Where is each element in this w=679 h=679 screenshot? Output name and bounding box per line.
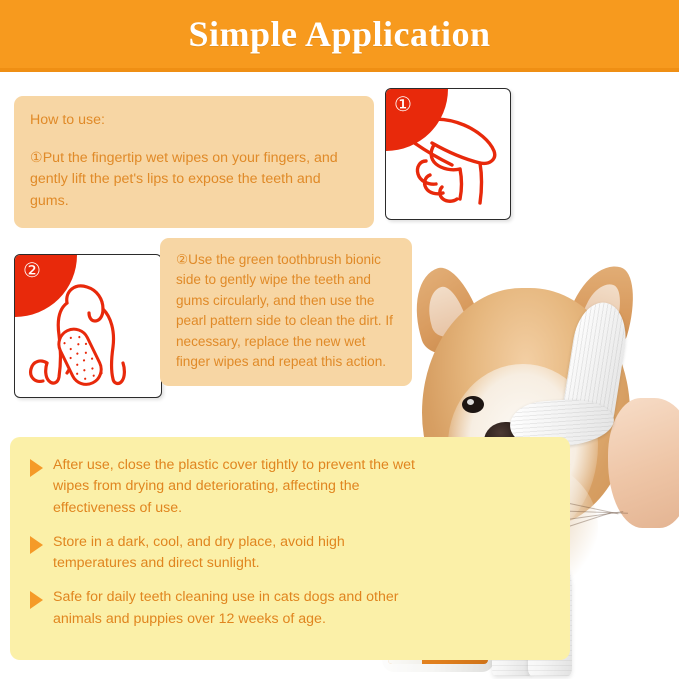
dog-eye-highlight [467,399,474,405]
dog-eye-open [462,396,484,413]
tip-item: After use, close the plastic cover tight… [26,455,554,519]
triangle-bullet-icon [30,591,43,609]
step-1-badge-number: ① [394,95,412,115]
illustration-panel-step-1: ① [385,88,511,220]
triangle-bullet-icon [30,459,43,477]
infographic-root: Simple Application [0,0,679,679]
tip-text: Safe for daily teeth cleaning use in cat… [53,587,425,630]
how-to-use-heading: How to use: [30,110,358,132]
illustration-panel-step-2: ② [14,254,162,398]
triangle-bullet-icon [30,536,43,554]
tips-panel: After use, close the plastic cover tight… [10,437,570,660]
tip-item: Store in a dark, cool, and dry place, av… [26,532,554,575]
tip-text: Store in a dark, cool, and dry place, av… [53,532,425,575]
step-2-text: ②Use the green toothbrush bionic side to… [176,250,398,372]
tip-item: Safe for daily teeth cleaning use in cat… [26,587,554,630]
human-hand [608,398,679,528]
step-1-text: ①Put the fingertip wet wipes on your fin… [30,148,358,213]
step-2-box: ②Use the green toothbrush bionic side to… [160,238,412,386]
step-2-badge-number: ② [23,261,41,281]
how-to-use-box: How to use: ①Put the fingertip wet wipes… [14,96,374,228]
tip-text: After use, close the plastic cover tight… [53,455,425,519]
